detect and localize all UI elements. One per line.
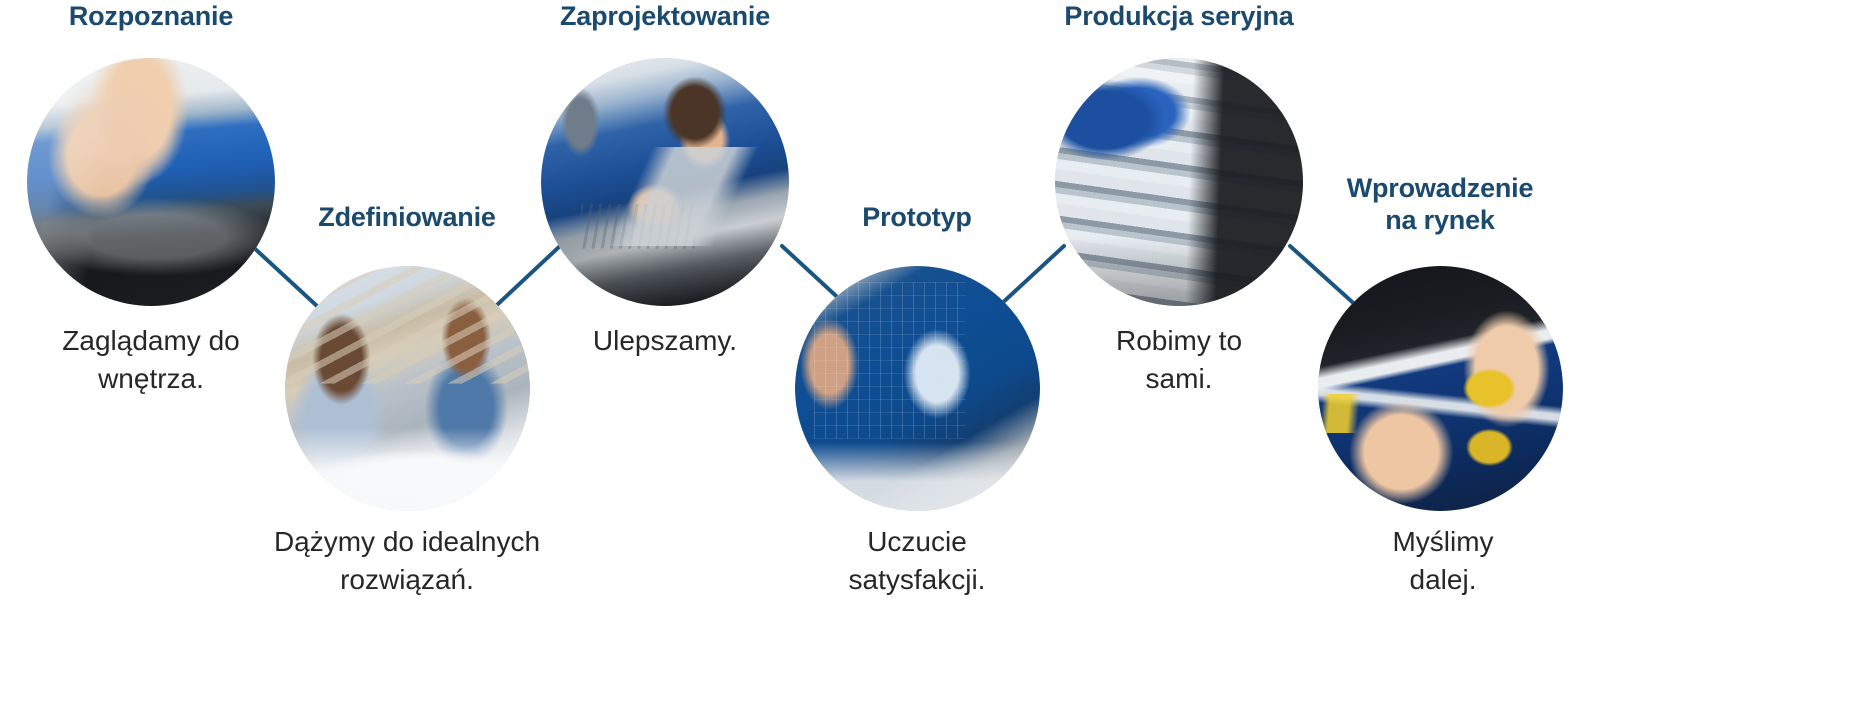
step-circle-produkcja-seryjna[interactable] [1055, 58, 1303, 306]
step-circle-prototyp[interactable] [795, 266, 1040, 511]
team-meeting-photo [285, 266, 530, 511]
step-title-produkcja-seryjna: Produkcja seryjna [1049, 1, 1309, 33]
step-caption-zdefiniowanie: Dążymy do idealnych rozwiązań. [252, 523, 562, 599]
step-caption-rozpoznanie: Zaglądamy do wnętrza. [21, 322, 281, 398]
step-title-wprowadzenie-na-rynek: Wprowadzenie na rynek [1310, 173, 1570, 237]
cad-model-photo [795, 266, 1040, 511]
step-title-rozpoznanie: Rozpoznanie [21, 1, 281, 33]
inspection-photo [27, 58, 275, 306]
production-line-photo [1055, 58, 1303, 306]
step-circle-zaprojektowanie[interactable] [541, 58, 789, 306]
step-title-zaprojektowanie: Zaprojektowanie [535, 1, 795, 33]
step-caption-wprowadzenie-na-rynek: Myślimy dalej. [1313, 523, 1573, 599]
step-caption-zaprojektowanie: Ulepszamy. [535, 322, 795, 360]
diagnostics-photo [541, 58, 789, 306]
step-circle-wprowadzenie-na-rynek[interactable] [1318, 266, 1563, 511]
step-circle-zdefiniowanie[interactable] [285, 266, 530, 511]
step-title-prototyp: Prototyp [787, 202, 1047, 234]
step-title-zdefiniowanie: Zdefiniowanie [277, 202, 537, 234]
market-launch-photo [1318, 266, 1563, 511]
step-caption-produkcja-seryjna: Robimy to sami. [1049, 322, 1309, 398]
step-circle-rozpoznanie[interactable] [27, 58, 275, 306]
process-infographic: Rozpoznanie Zaglądamy do wnętrza. Zdefin… [0, 0, 1869, 705]
step-caption-prototyp: Uczucie satysfakcji. [792, 523, 1042, 599]
